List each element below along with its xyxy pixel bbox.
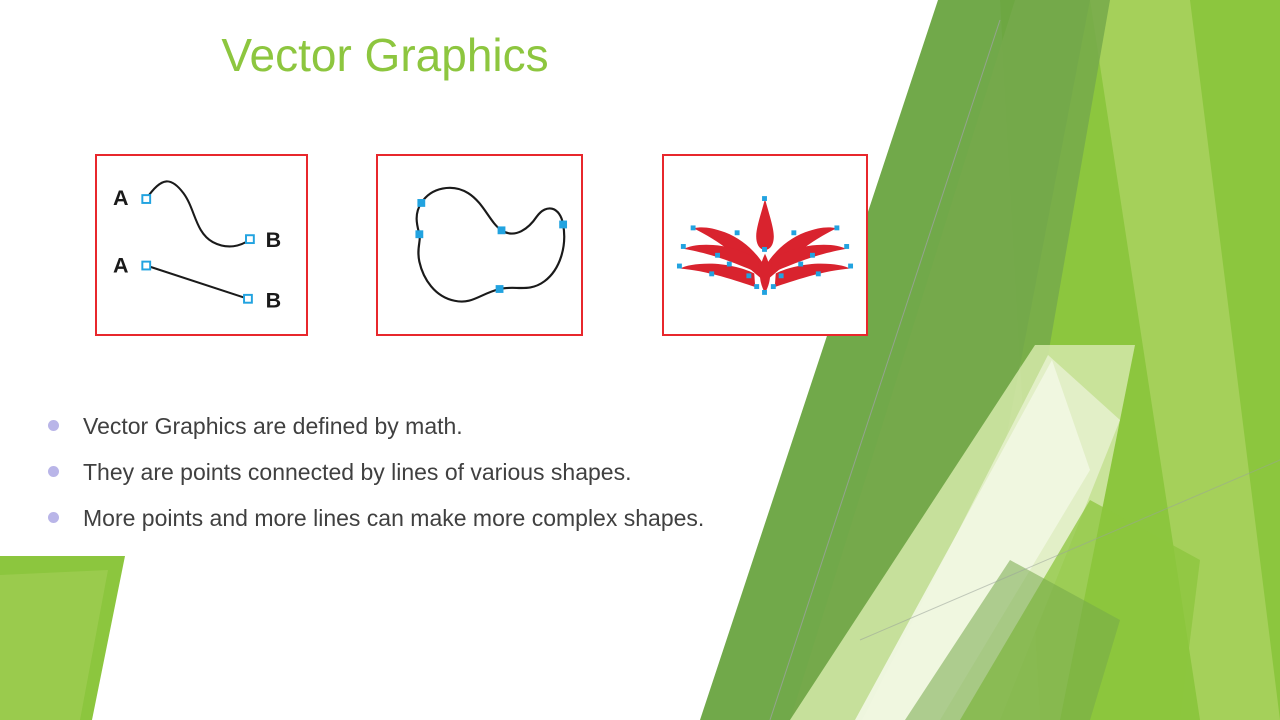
deco-shape-mid-overlay <box>790 0 1110 720</box>
deco-shape-bottom-left-wedge <box>0 556 125 720</box>
list-item: More points and more lines can make more… <box>48 504 878 533</box>
list-item: Vector Graphics are defined by math. <box>48 412 878 441</box>
anchor-square-blob-3 <box>559 221 567 229</box>
bullet-text: They are points connected by lines of va… <box>83 458 632 487</box>
emblem-teardrop <box>756 199 774 250</box>
emblem-center-plume <box>760 254 770 293</box>
deco-shape-palest-tail <box>855 360 1090 720</box>
deco-hairline-shallow <box>860 460 1280 640</box>
emblem-right-outer-feather <box>775 264 850 287</box>
wings-emblem-art <box>680 199 850 293</box>
deco-shape-dark-wedge <box>700 0 1090 720</box>
figure-panel-closed-blob <box>376 154 583 336</box>
page-title: Vector Graphics <box>60 30 710 81</box>
deco-shape-paler-lower <box>862 355 1120 720</box>
anchor-square-b-curve <box>246 235 254 243</box>
closed-blob-path <box>417 188 565 302</box>
figure-panel-wings-emblem <box>662 154 868 336</box>
anchor-square-a-line <box>142 262 150 270</box>
slide-canvas: Vector Graphics A B A B <box>0 0 1280 720</box>
deco-shape-green-foot <box>960 500 1200 720</box>
label-a-line: A <box>113 253 129 277</box>
anchor-square-blob-2 <box>498 226 506 234</box>
figure-panel-paths-ab: A B A B <box>95 154 308 336</box>
deco-shape-bottom-left-soft <box>0 570 108 720</box>
deco-hairline-diagonal <box>770 20 1000 720</box>
label-a-curve: A <box>113 186 129 210</box>
bullet-text: More points and more lines can make more… <box>83 504 704 533</box>
bullet-text: Vector Graphics are defined by math. <box>83 412 463 441</box>
deco-shape-bright-mid <box>1000 0 1200 720</box>
bullet-marker-icon <box>48 420 59 431</box>
anchor-square-b-line <box>244 295 252 303</box>
bullet-marker-icon <box>48 466 59 477</box>
deco-shape-light-right <box>1050 0 1280 720</box>
deco-shape-midgreen-foot <box>905 560 1120 720</box>
theme-decoration <box>0 0 1280 720</box>
bullet-list: Vector Graphics are defined by math. The… <box>48 412 878 549</box>
list-item: They are points connected by lines of va… <box>48 458 878 487</box>
label-b-line: B <box>266 289 282 313</box>
bullet-marker-icon <box>48 512 59 523</box>
straight-path-ab <box>146 266 248 299</box>
curve-path-ab <box>146 181 249 246</box>
deco-shape-bright-far-right <box>1145 0 1280 720</box>
label-b-curve: B <box>266 228 282 252</box>
figure-strip: A B A B <box>95 154 885 338</box>
anchor-square-blob-1 <box>417 199 425 207</box>
anchor-square-blob-5 <box>496 285 504 293</box>
emblem-left-outer-feather <box>680 264 755 287</box>
anchor-square-a-curve <box>142 195 150 203</box>
anchor-square-blob-4 <box>415 230 423 238</box>
